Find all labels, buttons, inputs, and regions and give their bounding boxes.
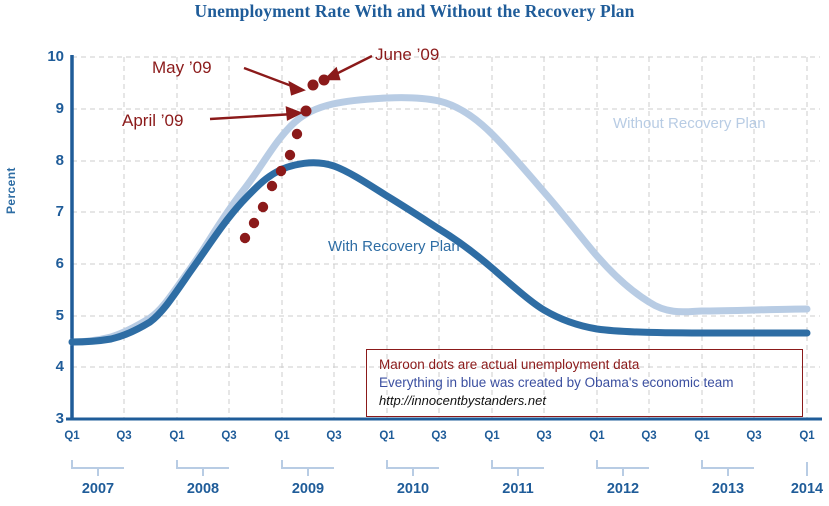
x-tick-q3-2013: Q3 [739, 430, 769, 442]
arrow-line-april [210, 114, 294, 119]
unemployment-chart: Unemployment Rate With and Without the R… [0, 0, 829, 506]
x-year-2010: 2010 [378, 481, 448, 497]
x-tick-q1-2010: Q1 [372, 430, 402, 442]
series-label-with-recovery-plan: With Recovery Plan [328, 238, 460, 255]
data-point-dot [292, 129, 302, 139]
data-point-dot [240, 233, 250, 243]
x-year-2014: 2014 [772, 481, 829, 497]
data-point-dot [267, 181, 277, 191]
x-year-2007: 2007 [63, 481, 133, 497]
data-point-dot [276, 166, 286, 176]
x-tick-q1-2011: Q1 [477, 430, 507, 442]
data-point-dot [249, 218, 259, 228]
data-point-dot [308, 80, 319, 91]
series-label-without-recovery-plan: Without Recovery Plan [613, 115, 766, 132]
arrow-head-may [290, 83, 303, 94]
x-tick-q1-2013: Q1 [687, 430, 717, 442]
annotation-may-09: May ’09 [152, 58, 212, 78]
arrow-line-may [244, 68, 297, 88]
annotation-april-09: April ’09 [122, 111, 183, 131]
x-year-2013: 2013 [693, 481, 763, 497]
data-point-dot [285, 150, 295, 160]
x-year-2011: 2011 [483, 481, 553, 497]
x-year-2009: 2009 [273, 481, 343, 497]
note-line-source-url[interactable]: http://innocentbystanders.net [379, 392, 802, 410]
x-tick-q1-2012: Q1 [582, 430, 612, 442]
x-year-2008: 2008 [168, 481, 238, 497]
x-tick-q1-2008: Q1 [162, 430, 192, 442]
x-tick-q1-2014: Q1 [792, 430, 822, 442]
x-tick-q3-2008: Q3 [214, 430, 244, 442]
x-tick-q3-2007: Q3 [109, 430, 139, 442]
annotation-arrows [210, 56, 372, 119]
note-line-blue-created: Everything in blue was created by Obama'… [379, 374, 802, 392]
x-tick-q3-2010: Q3 [424, 430, 454, 442]
x-tick-q1-2009: Q1 [267, 430, 297, 442]
data-point-dot [301, 106, 312, 117]
note-line-maroon-dots: Maroon dots are actual unemployment data [379, 356, 802, 374]
note-box: Maroon dots are actual unemployment data… [366, 349, 803, 417]
x-tick-q3-2009: Q3 [319, 430, 349, 442]
x-year-2012: 2012 [588, 481, 658, 497]
data-point-dot [258, 202, 268, 212]
annotation-june-09: June ’09 [375, 45, 439, 65]
x-tick-q3-2011: Q3 [529, 430, 559, 442]
year-brackets [72, 460, 807, 476]
x-tick-q3-2012: Q3 [634, 430, 664, 442]
actual-data-dots [240, 75, 330, 244]
x-tick-q1-2007: Q1 [57, 430, 87, 442]
arrow-head-june [326, 69, 339, 79]
